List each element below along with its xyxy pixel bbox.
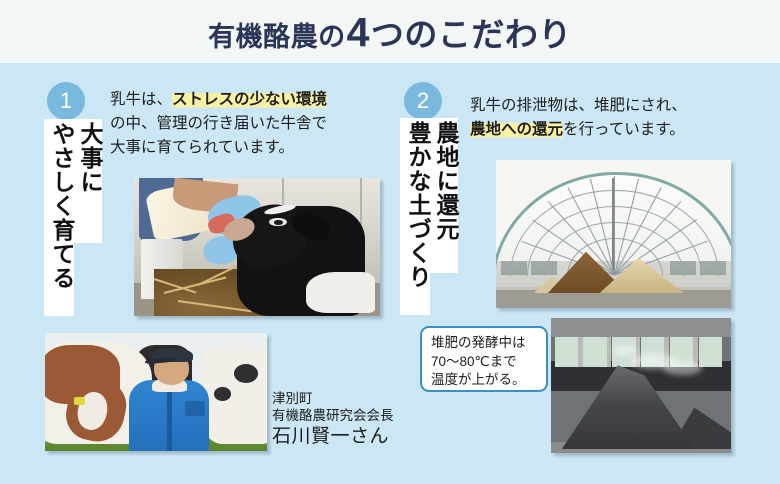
section-1-body-line-3: 大事に育てられています。 bbox=[110, 136, 327, 160]
section-2-body-line-2: 農地への還元を行っています。 bbox=[470, 118, 687, 142]
section-1-number-badge: 1 bbox=[47, 82, 85, 120]
photo-farmer bbox=[45, 333, 267, 451]
section-2-number-badge: 2 bbox=[404, 82, 442, 120]
caption-name: 石川賢一さん bbox=[272, 425, 394, 449]
section-1-body-line-2: の中、管理の行き届いた牛舎で bbox=[110, 112, 327, 136]
section-2-line-2-plain: を行っています。 bbox=[563, 121, 685, 138]
title-band: 有機酪農の 4 つのこだわり bbox=[0, 0, 780, 63]
section-1-body: 乳牛は、ストレスの少ない環境 の中、管理の行き届いた牛舎で 大事に育てられていま… bbox=[110, 88, 327, 160]
caption-town: 津別町 bbox=[272, 390, 394, 407]
farmer-caption: 津別町 有機酪農研究会会長 石川賢一さん bbox=[272, 390, 394, 449]
infographic-root: 有機酪農の 4 つのこだわり 1 乳牛は、ストレスの少ない環境 の中、管理の行き… bbox=[0, 0, 780, 484]
section-2-body: 乳牛の排泄物は、堆肥にされ、 農地への還元を行っています。 bbox=[470, 94, 687, 142]
section-2-vertical-label-sub: 豊かな土づくり bbox=[400, 118, 430, 315]
photo-calf bbox=[134, 178, 380, 316]
section-1-number: 1 bbox=[60, 90, 72, 112]
section-2-line-2-highlight: 農地への還元 bbox=[470, 121, 563, 138]
page-title-suffix: つのこだわり bbox=[371, 8, 572, 56]
caption-role: 有機酪農研究会会長 bbox=[272, 407, 394, 424]
page-title: 有機酪農の 4 つのこだわり bbox=[208, 8, 572, 56]
page-title-prefix: 有機酪農の bbox=[208, 15, 346, 54]
section-1-vertical-label-sub: やさしく育てる bbox=[44, 119, 74, 316]
compost-temperature-callout: 堆肥の発酵中は 70〜80℃まで 温度が上がる。 bbox=[420, 326, 548, 392]
section-1-line-1-plain: 乳牛は、 bbox=[110, 91, 172, 108]
section-2-number: 2 bbox=[417, 90, 429, 112]
section-1-body-line-1: 乳牛は、ストレスの少ない環境 bbox=[110, 88, 327, 112]
photo-compost-barn bbox=[496, 160, 731, 308]
callout-line-3: 温度が上がる。 bbox=[431, 371, 538, 390]
section-1-line-1-highlight: ストレスの少ない環境 bbox=[172, 91, 327, 108]
callout-line-1: 堆肥の発酵中は bbox=[431, 334, 538, 353]
page-title-number: 4 bbox=[347, 12, 370, 53]
section-2-vertical-label-main: 農地に還元 bbox=[428, 118, 458, 273]
callout-line-2: 70〜80℃まで bbox=[431, 353, 538, 372]
section-1-vertical-label-main: 大事に bbox=[72, 119, 102, 243]
section-2-body-line-1: 乳牛の排泄物は、堆肥にされ、 bbox=[470, 94, 687, 118]
photo-compost-pile bbox=[551, 318, 731, 453]
